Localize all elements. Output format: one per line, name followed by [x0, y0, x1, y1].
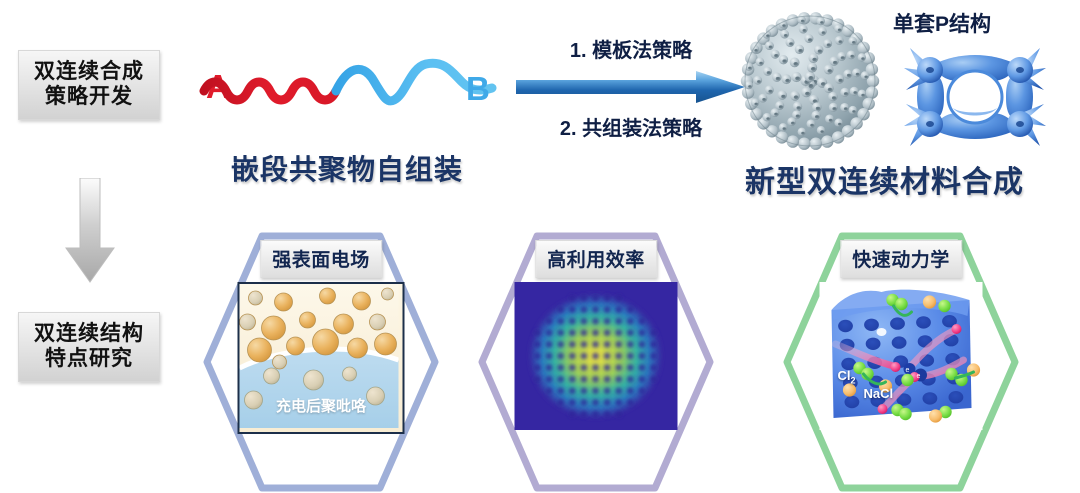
ion-label-nacl: NaCl — [864, 386, 894, 401]
strategy-item-1: 1. 模板法策略 — [516, 34, 746, 63]
feature-panel-high-utilization-efficiency: 高利用效率 — [478, 232, 714, 492]
stage-label-line-2: 策略开发 — [45, 85, 133, 110]
stage-label-strategy-development: 双连续合成 策略开发 — [18, 50, 160, 120]
copolymer-caption: 嵌段共聚物自组装 — [231, 148, 463, 188]
svg-text:e: e — [906, 367, 910, 374]
ion-label-cl2: Cl2 — [838, 368, 856, 386]
strategy-arrow-block: 1. 模板法策略 2. 共组装法策略 — [516, 32, 746, 144]
right-arrow-icon — [516, 70, 746, 104]
polypyrrole-diagram: 充电后聚吡咯 — [238, 282, 405, 434]
copolymer-block-b-label: B — [466, 70, 490, 108]
strategy-item-2: 2. 共组装法策略 — [516, 112, 746, 141]
p-structure-label: 单套P结构 — [893, 8, 991, 38]
stage-label-structure-study: 双连续结构 特点研究 — [18, 312, 160, 382]
stage-label-line-1: 双连续合成 — [34, 60, 144, 85]
bicontinuous-sphere-icon — [737, 8, 883, 154]
feature-badge-fast-kinetics: 快速动力学 — [840, 240, 962, 278]
bicontinuous-lattice-icon: e e — [820, 282, 983, 430]
product-caption: 新型双连续材料合成 — [745, 157, 1024, 201]
fast-kinetics-diagram: e e Cl2 NaCl — [820, 282, 983, 430]
stage-label-line-1: 双连续结构 — [34, 322, 144, 347]
polypyrrole-inner-label: 充电后聚吡咯 — [240, 395, 403, 416]
feature-panel-strong-surface-field: 强表面电场 — [203, 232, 439, 492]
feature-panel-fast-kinetics: 快速动力学 — [783, 232, 1019, 492]
block-copolymer-chain-icon — [196, 48, 506, 128]
stage-label-line-2: 特点研究 — [45, 347, 133, 372]
p-structure-icon — [900, 38, 1050, 156]
figure-canvas: 双连续合成 策略开发 双连续结构 特点研究 A — [0, 0, 1080, 493]
svg-text:e: e — [917, 373, 921, 380]
utilization-heatmap — [515, 282, 678, 430]
feature-badge-strong-surface-field: 强表面电场 — [260, 240, 382, 278]
heatmap-icon — [515, 282, 678, 430]
down-arrow-icon — [62, 178, 118, 290]
feature-badge-high-utilization-efficiency: 高利用效率 — [535, 240, 657, 278]
